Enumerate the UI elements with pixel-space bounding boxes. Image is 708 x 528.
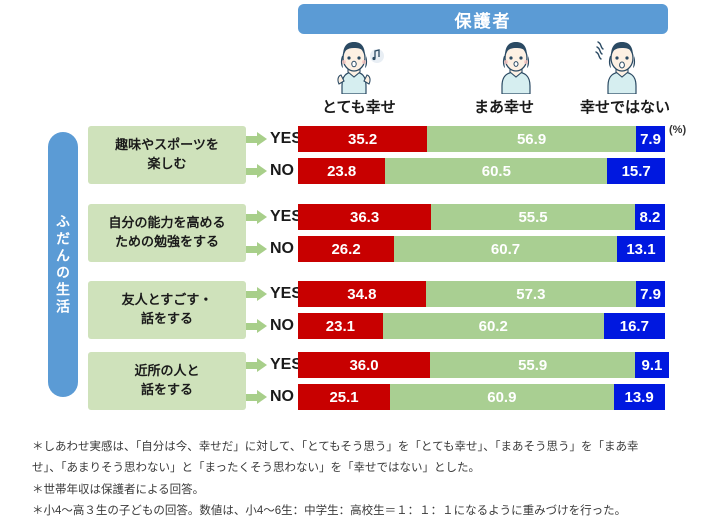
bar-segment-somewhat-happy: 57.3 [426, 281, 636, 307]
arrow-icon [246, 358, 268, 372]
bar-value-label: 7.9 [640, 287, 661, 302]
bar-segment-somewhat-happy: 56.9 [427, 126, 636, 152]
bar-value-label: 23.8 [327, 164, 356, 179]
bar-value-label: 56.9 [517, 132, 546, 147]
bar-value-label: 57.3 [516, 287, 545, 302]
column-header-not-happy: 幸せではない [580, 96, 670, 117]
bar-segment-not-happy: 8.2 [635, 204, 665, 230]
arrow-icon [246, 242, 268, 256]
bar-segment-not-happy: 13.1 [617, 236, 665, 262]
footnote-line: ＊小4〜高３生の子どもの回答。数値は、小4〜6生：中学生：高校生＝１：１：１にな… [32, 501, 682, 522]
stacked-bar-row: 25.160.913.9 [298, 384, 665, 410]
bar-value-label: 13.9 [625, 390, 654, 405]
bar-segment-somewhat-happy: 60.2 [383, 313, 604, 339]
unhappy-woman-icon [590, 36, 654, 94]
stacked-bar-row: 23.160.216.7 [298, 313, 665, 339]
bar-value-label: 13.1 [626, 242, 655, 257]
bar-value-label: 36.3 [350, 210, 379, 225]
bar-value-label: 60.9 [487, 390, 516, 405]
question-label-box: 友人とすごす・話をする [88, 281, 246, 339]
bar-value-label: 36.0 [349, 358, 378, 373]
bar-segment-somewhat-happy: 55.5 [431, 204, 635, 230]
column-header-very-happy: とても幸せ [322, 96, 396, 117]
bar-segment-somewhat-happy: 55.9 [430, 352, 635, 378]
question-group: 趣味やスポーツを楽しむYES35.256.97.9NO23.860.515.7 [88, 126, 683, 190]
arrow-icon [246, 132, 268, 146]
stacked-bar-row: 35.256.97.9 [298, 126, 665, 152]
question-label-line: 自分の能力を高める [108, 214, 225, 233]
question-label-line: 楽しむ [147, 155, 186, 174]
question-label-box: 近所の人と話をする [88, 352, 246, 410]
bar-segment-very-happy: 36.0 [298, 352, 430, 378]
question-label-line: 話をする [141, 310, 193, 329]
footnote-line: ＊世帯年収は保護者による回答。 [32, 480, 682, 501]
bar-segment-not-happy: 7.9 [636, 126, 665, 152]
bar-value-label: 7.9 [640, 132, 661, 147]
bar-value-label: 25.1 [329, 390, 358, 405]
bar-value-label: 15.7 [622, 164, 651, 179]
arrow-icon [246, 287, 268, 301]
bar-value-label: 60.5 [482, 164, 511, 179]
question-label-line: 話をする [141, 381, 193, 400]
arrow-icon [246, 164, 268, 178]
footnote-line: せ」、「あまりそう思わない」と「まったくそう思わない」を「幸せではない」とした。 [32, 458, 682, 479]
bar-segment-very-happy: 23.8 [298, 158, 385, 184]
bar-value-label: 8.2 [640, 210, 661, 225]
bar-value-label: 26.2 [331, 242, 360, 257]
bar-segment-somewhat-happy: 60.9 [390, 384, 614, 410]
footnotes: ＊しあわせ実感は、「自分は今、幸せだ」に対して、「とてもそう思う」を「とても幸せ… [32, 437, 682, 522]
bar-segment-very-happy: 23.1 [298, 313, 383, 339]
infographic-root: 保護者 [0, 0, 708, 528]
bar-value-label: 9.1 [642, 358, 663, 373]
bar-segment-somewhat-happy: 60.7 [394, 236, 617, 262]
column-header-somewhat-happy: まあ幸せ [474, 96, 534, 117]
vertical-category-label: ふだんの生活 [53, 214, 73, 316]
happy-woman-icon [322, 36, 386, 94]
question-label-line: 友人とすごす・ [122, 291, 213, 310]
question-group: 友人とすごす・話をするYES34.857.37.9NO23.160.216.7 [88, 281, 683, 345]
bar-segment-very-happy: 25.1 [298, 384, 390, 410]
bar-segment-not-happy: 15.7 [607, 158, 665, 184]
bar-segment-very-happy: 35.2 [298, 126, 427, 152]
question-group: 自分の能力を高めるための勉強をするYES36.355.58.2NO26.260.… [88, 204, 683, 268]
question-group: 近所の人と話をするYES36.055.99.1NO25.160.913.9 [88, 352, 683, 416]
question-label-line: 趣味やスポーツを [115, 136, 219, 155]
bar-value-label: 16.7 [620, 319, 649, 334]
bar-segment-very-happy: 26.2 [298, 236, 394, 262]
bar-value-label: 60.2 [479, 319, 508, 334]
neutral-woman-icon [484, 36, 548, 94]
question-label-box: 趣味やスポーツを楽しむ [88, 126, 246, 184]
bar-value-label: 34.8 [347, 287, 376, 302]
bar-value-label: 55.9 [518, 358, 547, 373]
question-label-line: 近所の人と [134, 362, 199, 381]
arrow-icon [246, 210, 268, 224]
bar-segment-very-happy: 34.8 [298, 281, 426, 307]
bar-segment-very-happy: 36.3 [298, 204, 431, 230]
arrow-icon [246, 319, 268, 333]
bar-value-label: 60.7 [491, 242, 520, 257]
person-illustrations [298, 36, 668, 94]
stacked-bar-row: 26.260.713.1 [298, 236, 665, 262]
bar-segment-not-happy: 9.1 [635, 352, 668, 378]
vertical-category-band: ふだんの生活 [48, 132, 78, 397]
bar-segment-not-happy: 7.9 [636, 281, 665, 307]
stacked-bar-row: 36.355.58.2 [298, 204, 665, 230]
footnote-line: ＊しあわせ実感は、「自分は今、幸せだ」に対して、「とてもそう思う」を「とても幸せ… [32, 437, 682, 458]
header-banner: 保護者 [298, 4, 668, 34]
question-label-line: ための勉強をする [115, 233, 219, 252]
bar-value-label: 35.2 [348, 132, 377, 147]
stacked-bar-row: 23.860.515.7 [298, 158, 665, 184]
bar-value-label: 55.5 [518, 210, 547, 225]
stacked-bar-row: 34.857.37.9 [298, 281, 665, 307]
question-label-box: 自分の能力を高めるための勉強をする [88, 204, 246, 262]
arrow-icon [246, 390, 268, 404]
header-title: 保護者 [455, 7, 512, 32]
stacked-bar-row: 36.055.99.1 [298, 352, 665, 378]
bar-value-label: 23.1 [326, 319, 355, 334]
bar-segment-not-happy: 13.9 [614, 384, 665, 410]
bar-segment-somewhat-happy: 60.5 [385, 158, 607, 184]
bar-segment-not-happy: 16.7 [604, 313, 665, 339]
column-headers: とても幸せ まあ幸せ 幸せではない [298, 96, 688, 116]
